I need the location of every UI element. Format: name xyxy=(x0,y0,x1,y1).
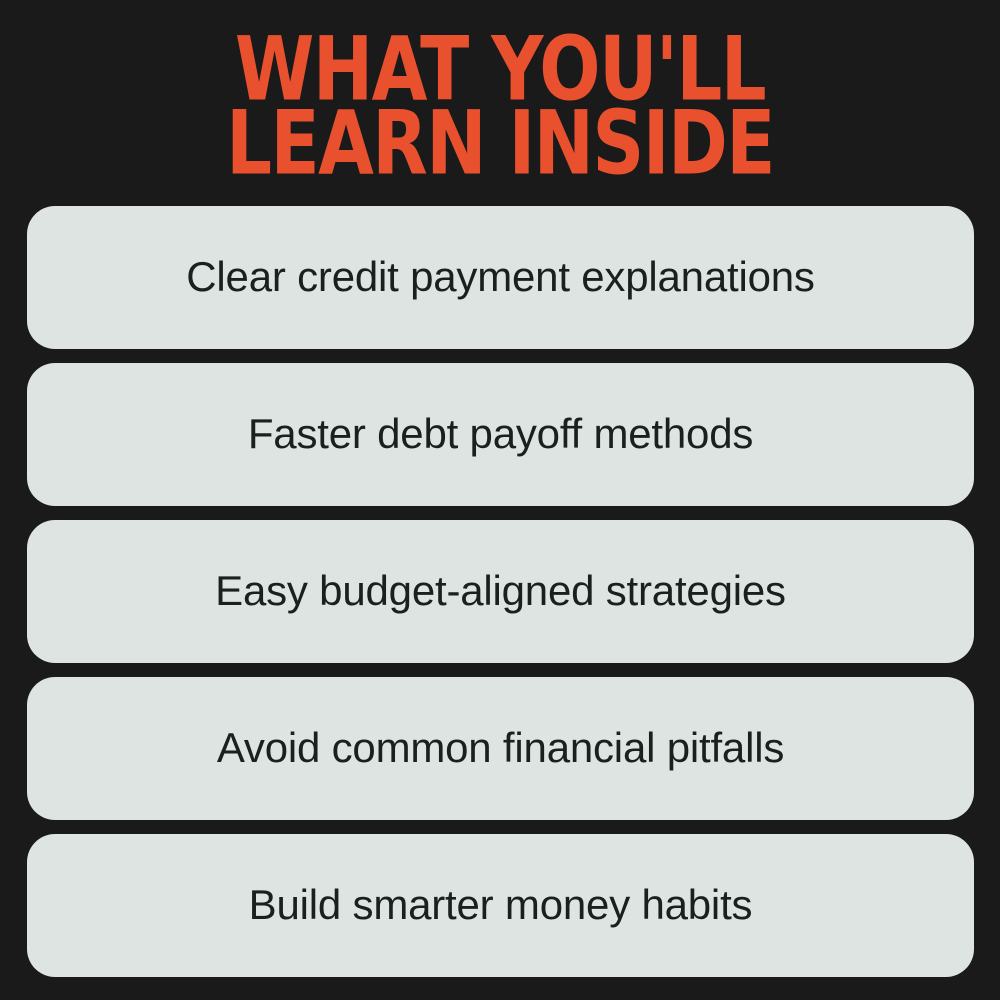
benefit-card-2-label: Faster debt payoff methods xyxy=(248,410,753,458)
page-title: WHAT YOU'LL LEARN INSIDE xyxy=(0,36,1000,164)
benefit-card-5[interactable]: Build smarter money habits xyxy=(27,834,974,977)
benefit-card-2[interactable]: Faster debt payoff methods xyxy=(27,363,974,506)
benefit-card-1[interactable]: Clear credit payment explanations xyxy=(27,206,974,349)
benefit-card-5-label: Build smarter money habits xyxy=(249,881,753,929)
page-title-line-2: LEARN INSIDE xyxy=(0,110,1000,180)
benefit-card-1-label: Clear credit payment explanations xyxy=(186,253,814,301)
poster-canvas: WHAT YOU'LL LEARN INSIDE Clear credit pa… xyxy=(0,0,1000,1000)
benefit-card-4[interactable]: Avoid common financial pitfalls xyxy=(27,677,974,820)
benefit-card-4-label: Avoid common financial pitfalls xyxy=(217,724,784,772)
benefit-card-list: Clear credit payment explanations Faster… xyxy=(27,206,974,977)
benefit-card-3[interactable]: Easy budget-aligned strategies xyxy=(27,520,974,663)
benefit-card-3-label: Easy budget-aligned strategies xyxy=(215,567,786,615)
